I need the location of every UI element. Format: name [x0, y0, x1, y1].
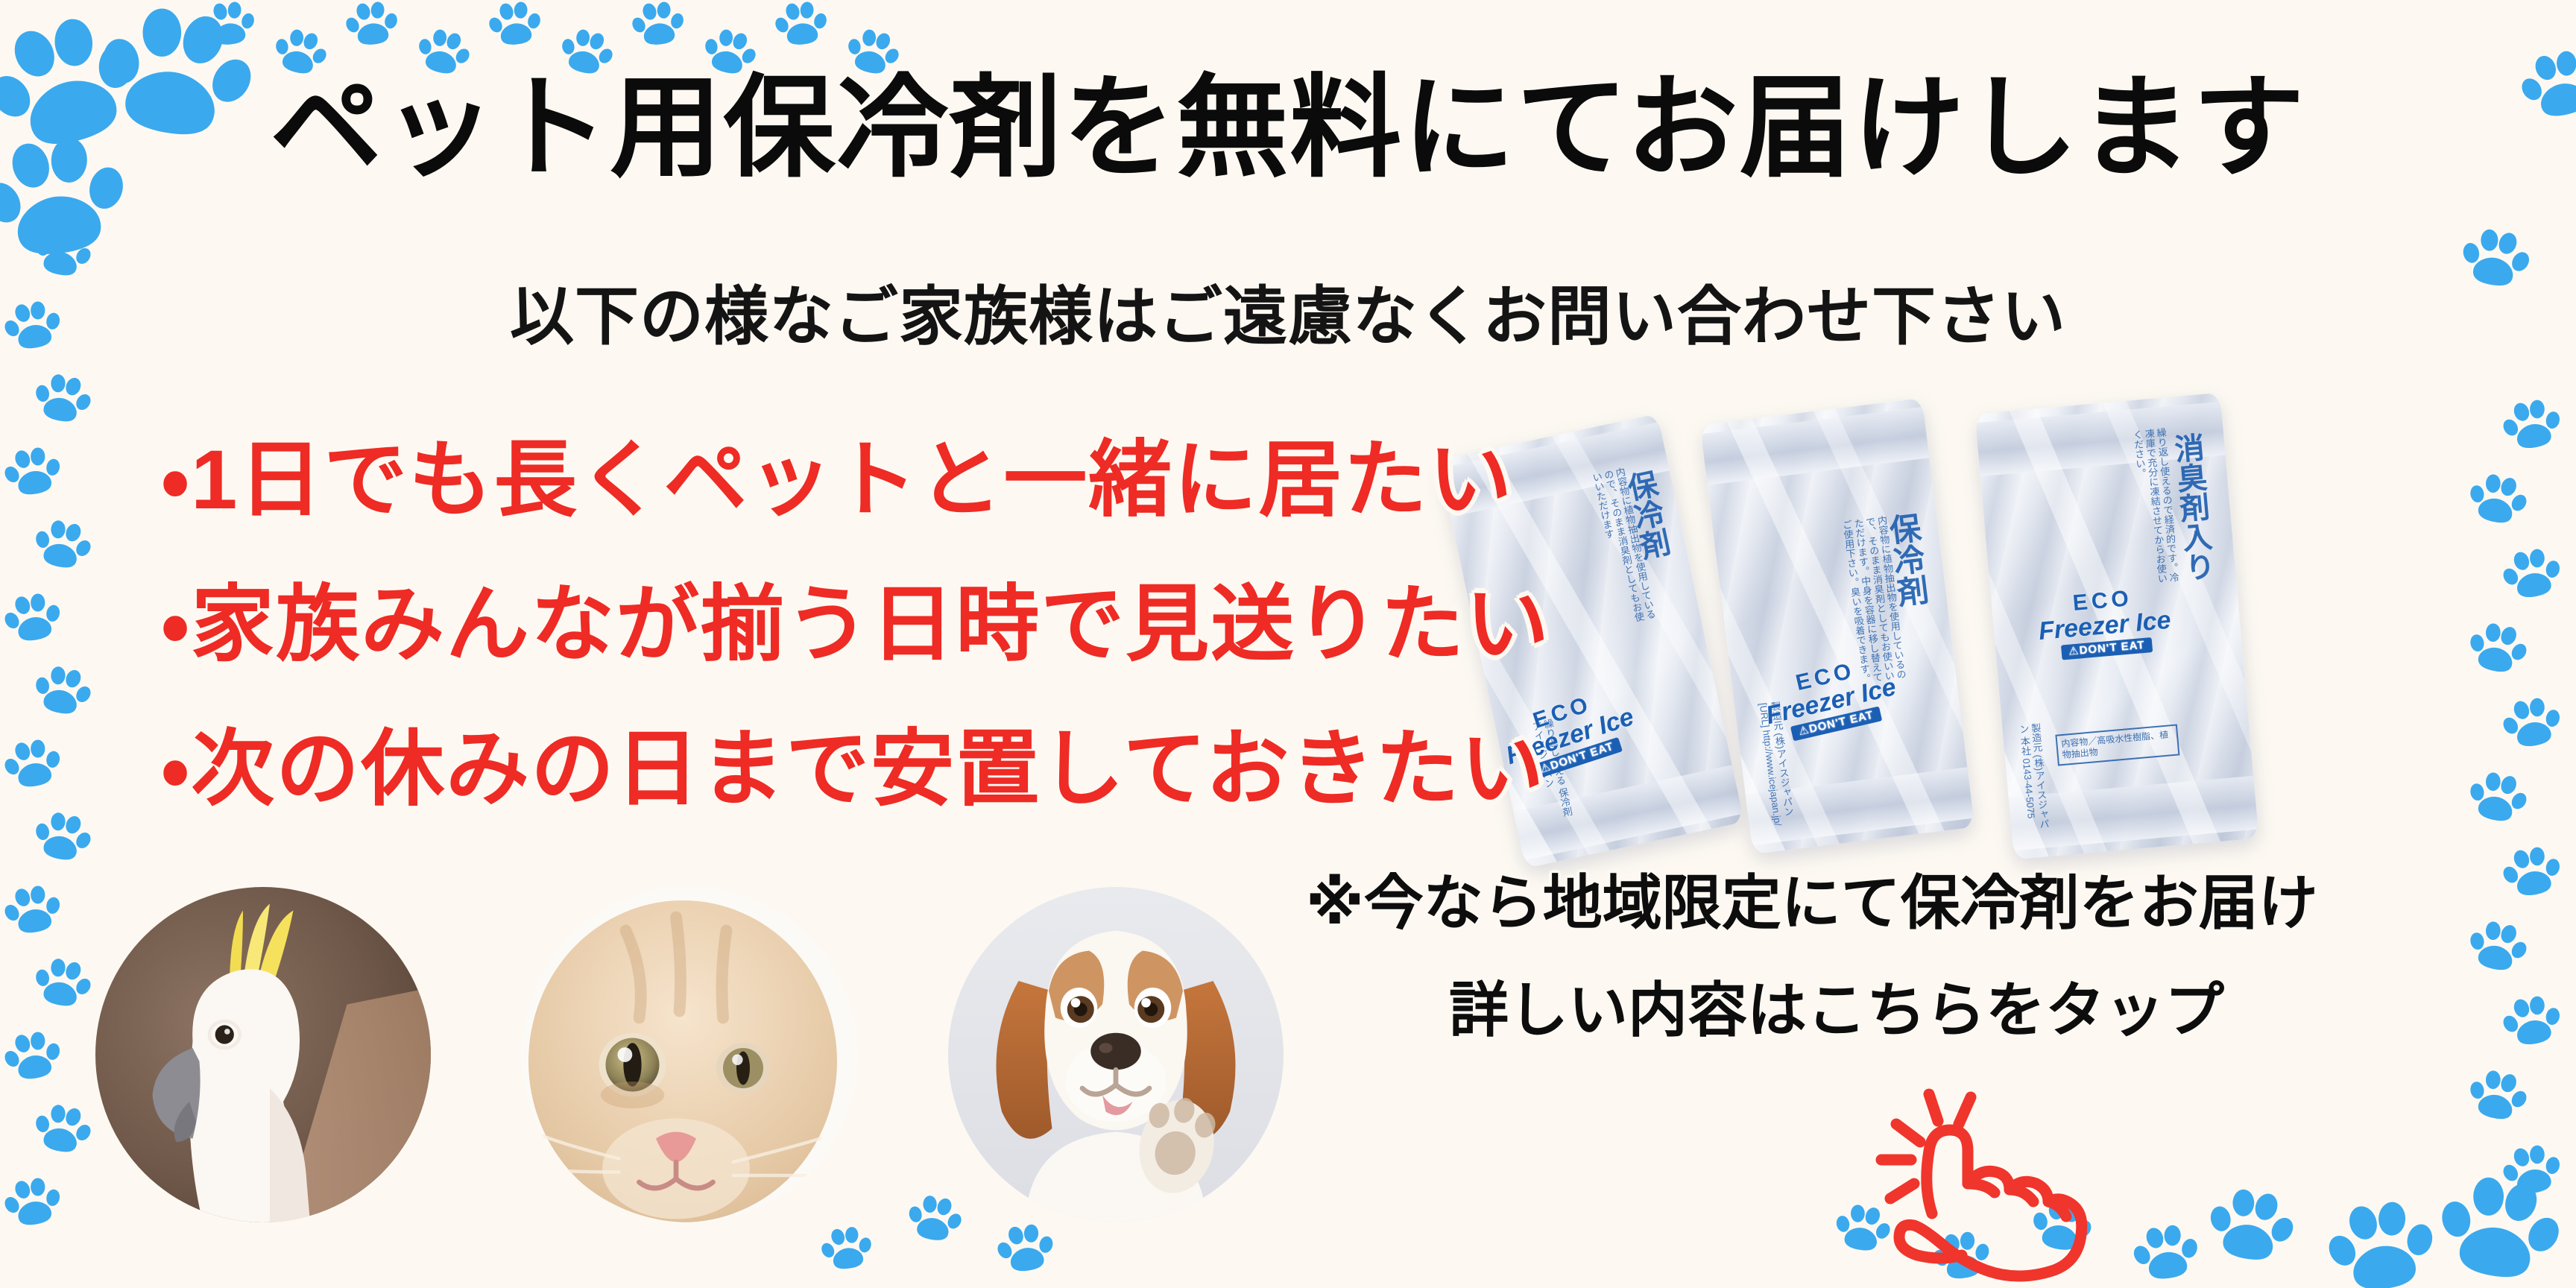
paw-print-icon [2326, 1193, 2437, 1288]
paw-print-icon [2501, 842, 2563, 903]
limited-area-note: ※今なら地域限定にて保冷剤をお届け [1306, 874, 2318, 933]
benefit-item-2: ・家族みんなが揃う日時で見送りたい [161, 583, 1550, 666]
paw-print-icon [3, 735, 63, 795]
paw-print-icon [33, 516, 92, 575]
paw-print-icon [3, 1173, 63, 1233]
paw-print-icon [2501, 693, 2563, 754]
pet-coolant-banner: 保冷剤 内容物に植物抽出物を使用しているので、そのまま消臭剤としてもお使いいただ… [0, 0, 2576, 1288]
paw-print-icon [2467, 470, 2528, 531]
paw-print-icon [33, 662, 92, 722]
paw-print-icon [33, 808, 92, 868]
paw-print-icon [2501, 395, 2563, 456]
paw-print-icon [3, 1027, 63, 1087]
paw-print-icon [33, 1100, 92, 1160]
paw-print-icon [2206, 1182, 2296, 1272]
paw-print-icon [2467, 1066, 2528, 1127]
paw-print-icon [2501, 544, 2563, 605]
paw-print-icon [487, 0, 543, 52]
paw-print-icon [201, 0, 256, 52]
paw-print-icon [631, 0, 686, 52]
page-title: ペット用保冷剤を無料にてお届けします [0, 72, 2576, 183]
ice-pack-3: 消臭剤入り 繰り返し使えるので経済的です。冷凍庫で充分に凍結させてからお使いくだ… [1974, 393, 2258, 859]
paw-print-icon [2501, 1140, 2563, 1202]
paw-print-icon [2132, 1219, 2200, 1288]
beagle-photo [948, 887, 1284, 1222]
ice-pack-2: 保冷剤 内容物に植物抽出物を使用しているので、そのまま消臭剤としてもお使いいただ… [1700, 398, 1974, 854]
paw-print-icon [996, 1219, 1055, 1279]
paw-print-icon [2436, 1167, 2563, 1288]
cat-photo [522, 887, 857, 1222]
paw-print-icon [2467, 768, 2528, 829]
paw-print-icon [3, 881, 63, 941]
tap-instruction-note[interactable]: 詳しい内容はこちらをタップ [1449, 981, 2224, 1041]
paw-print-icon [774, 0, 829, 52]
page-subtitle: 以下の様なご家族様はご遠慮なくお問い合わせ下さい [0, 285, 2576, 349]
paw-print-icon [344, 0, 400, 52]
cockatoo-photo [95, 887, 431, 1222]
paw-print-icon [33, 954, 92, 1014]
paw-print-icon [906, 1191, 963, 1248]
paw-print-icon [2501, 991, 2563, 1052]
benefit-item-3: ・次の休みの日まで安置しておきたい [161, 727, 1545, 811]
paw-print-icon [3, 589, 63, 648]
paw-print-icon [2467, 619, 2528, 680]
ice-pack-product-image: 保冷剤 内容物に植物抽出物を使用しているので、そのまま消臭剤としてもお使いいただ… [1480, 402, 2471, 865]
paw-print-icon [33, 224, 92, 283]
tap-hand-icon[interactable] [1863, 1058, 2117, 1282]
benefit-item-1: ・1日でも長くペットと一緒に居たい [161, 438, 1513, 522]
paw-print-icon [820, 1222, 874, 1276]
paw-print-icon [33, 370, 92, 429]
paw-print-icon [3, 443, 63, 502]
paw-print-icon [2467, 917, 2528, 978]
